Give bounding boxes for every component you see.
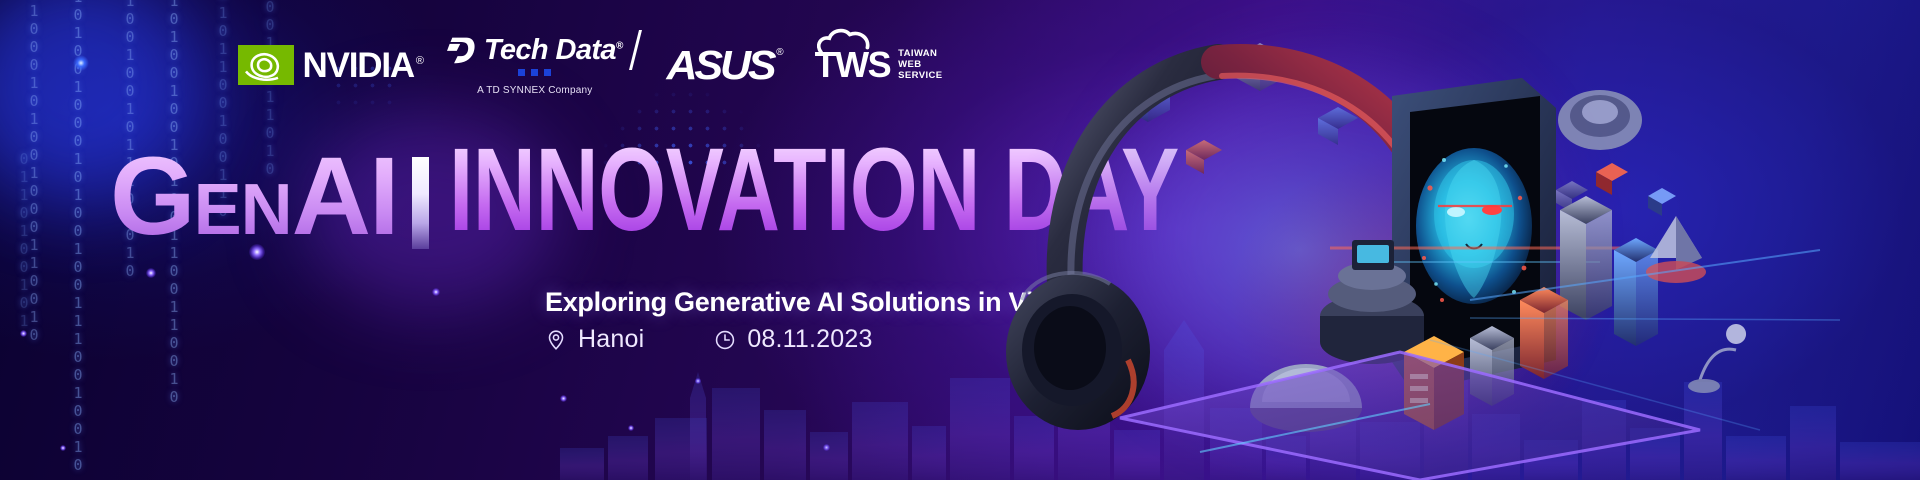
sparkle-dot <box>823 444 830 451</box>
sparkle-dot <box>60 445 66 451</box>
tws-tagline-line3: SERVICE <box>898 70 942 81</box>
genai-innovation-day-banner: 01000101001000110010 1101001000101001001… <box>0 0 1920 480</box>
cloud-icon <box>817 28 877 54</box>
sparkle-dot <box>628 425 634 431</box>
nvidia-wordmark: NVIDIA® <box>303 48 423 83</box>
sparkle-dot <box>20 330 27 337</box>
sparkle-dot <box>146 268 156 278</box>
techdata-d-mark-icon <box>447 34 477 66</box>
event-subtitle: Exploring Generative AI Solutions in Vie… <box>545 287 1111 318</box>
headline-genai-ai: AI <box>292 135 398 258</box>
partner-logo-bar: NVIDIA® Tech Data® A TD SYNNEX Company A… <box>0 30 1180 100</box>
techdata-wordmark: Tech Data® <box>484 36 623 65</box>
asus-wordmark-text: ASUS <box>666 42 773 88</box>
nvidia-registered-mark: ® <box>416 55 423 67</box>
headline-genai-g: G <box>110 135 194 258</box>
techdata-logo[interactable]: Tech Data® A TD SYNNEX Company <box>447 34 623 96</box>
headline-genai-en: EN <box>194 170 292 250</box>
techdata-wordmark-text: Tech Data <box>484 34 616 66</box>
sparkle-dot <box>560 395 567 402</box>
asus-logo[interactable]: ASUS ® <box>669 45 771 86</box>
asus-wordmark: ASUS <box>666 45 773 86</box>
techdata-slash-decor <box>629 30 642 70</box>
map-pin-icon <box>545 329 567 351</box>
event-location: Hanoi <box>545 325 644 354</box>
techdata-tagline: A TD SYNNEX Company <box>477 85 592 96</box>
event-date: 08.11.2023 <box>714 325 872 354</box>
techdata-registered-mark: ® <box>616 40 623 51</box>
headline: GENAI INNOVATION DAY <box>110 142 1217 252</box>
clock-icon <box>714 329 736 351</box>
sparkle-dot <box>695 378 701 384</box>
headline-innovation-day: INNOVATION DAY <box>449 131 1179 249</box>
tws-tagline-line2: WEB <box>898 59 942 70</box>
headline-divider <box>412 157 429 249</box>
event-date-label: 08.11.2023 <box>747 325 872 354</box>
tws-tagline: TAIWAN WEB SERVICE <box>898 48 942 83</box>
headline-genai: GENAI <box>110 142 398 252</box>
iso-pyramid <box>1646 216 1706 283</box>
event-meta: Hanoi 08.11.2023 <box>545 325 873 354</box>
event-location-label: Hanoi <box>578 325 644 354</box>
techdata-squares-decor <box>518 69 551 76</box>
city-skyline-silhouette <box>0 290 1920 480</box>
sparkle-dot <box>432 288 440 296</box>
asus-registered-mark: ® <box>776 47 783 58</box>
nvidia-wordmark-text: NVIDIA <box>303 46 414 85</box>
nvidia-eye-icon <box>238 45 294 85</box>
nvidia-logo[interactable]: NVIDIA® <box>238 45 423 85</box>
tws-tagline-line1: TAIWAN <box>898 48 942 59</box>
iso-lamp <box>1688 324 1746 393</box>
tws-logo[interactable]: TWS TAIWAN WEB SERVICE <box>815 47 943 83</box>
iso-coil <box>1558 90 1642 150</box>
binary-column: 0110100101 <box>16 150 31 330</box>
